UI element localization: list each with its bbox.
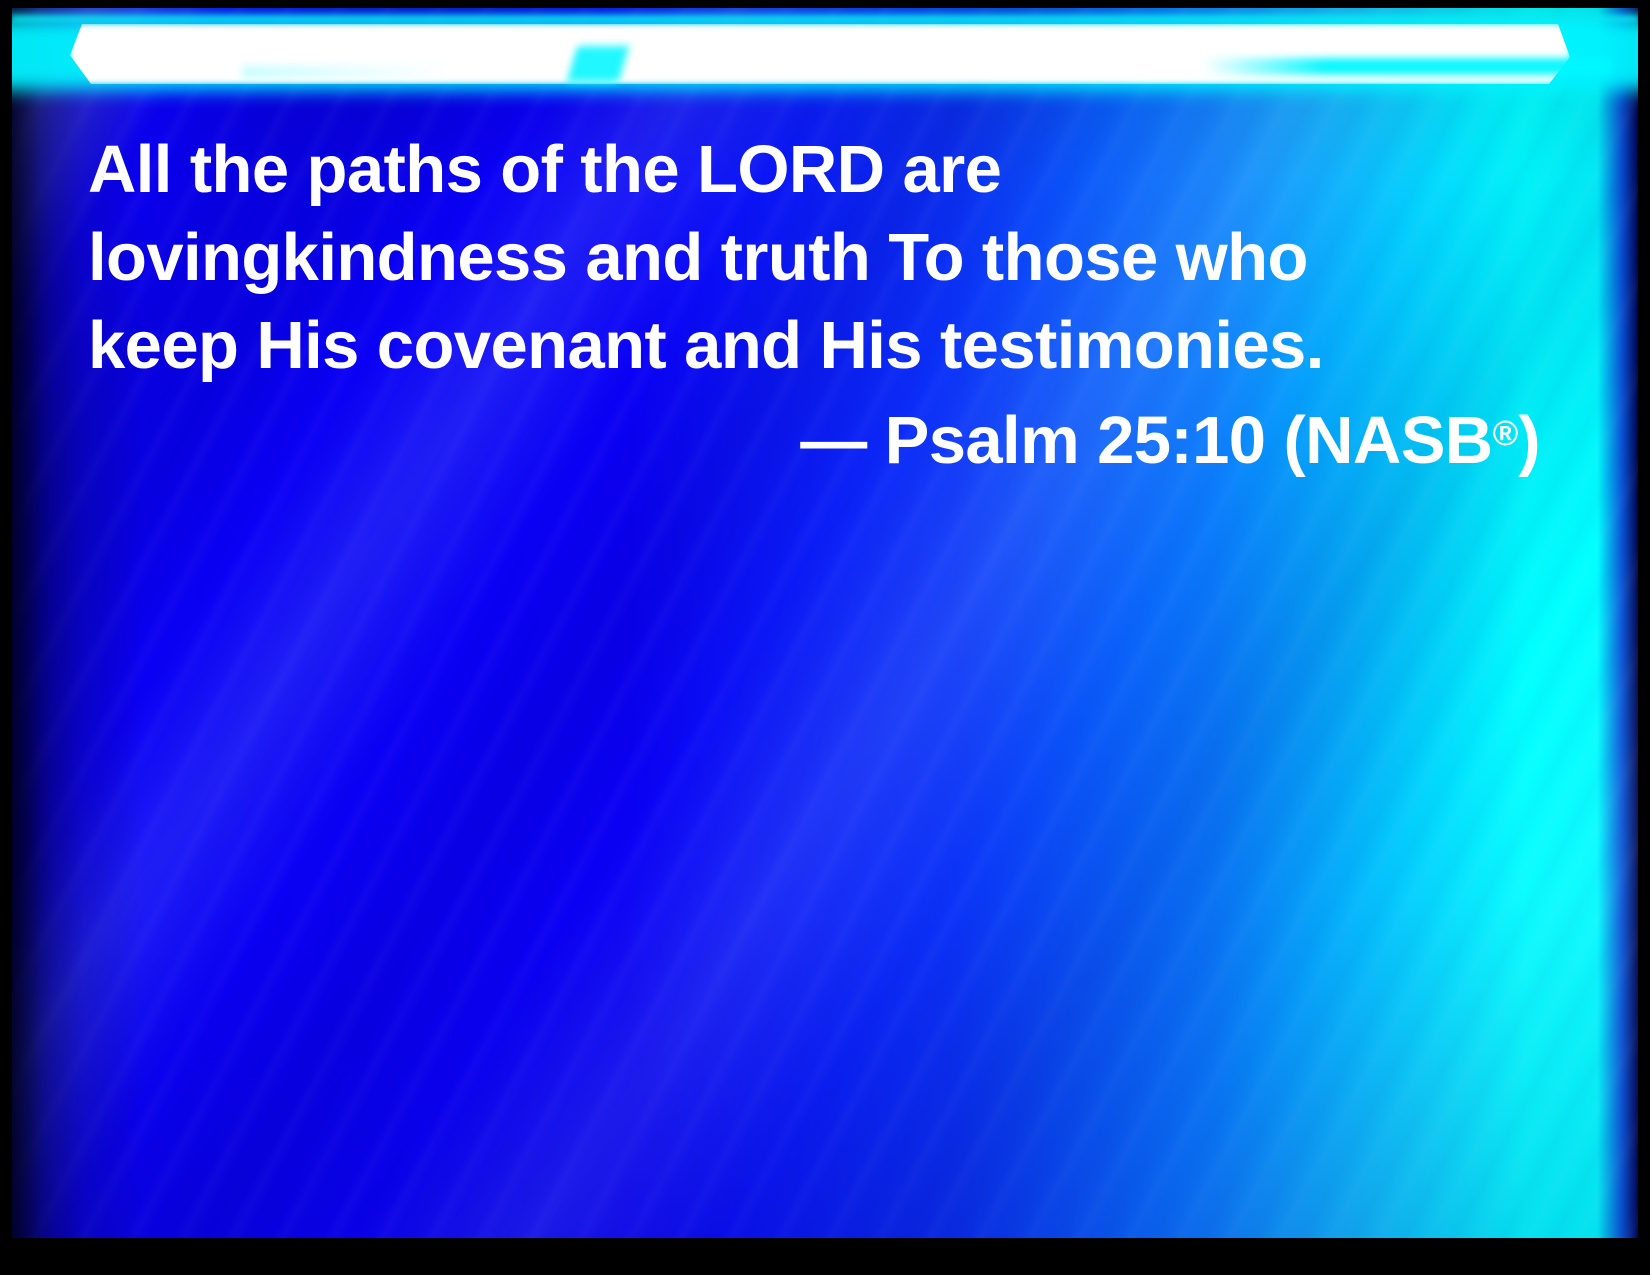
band-cyan-notch [567, 46, 629, 82]
attribution-prefix: — Psalm 25:10 (NASB [800, 403, 1492, 478]
top-glow-band [12, 8, 1638, 116]
verse-line-2: lovingkindness and truth To those who [88, 214, 1548, 302]
verse-text-block: All the paths of the LORD are lovingkind… [88, 126, 1548, 485]
verse-attribution: — Psalm 25:10 (NASB®) [88, 390, 1548, 485]
slide-artwork-canvas: All the paths of the LORD are lovingkind… [12, 8, 1638, 1238]
verse-slide: All the paths of the LORD are lovingkind… [0, 0, 1650, 1275]
registered-trademark-icon: ® [1493, 414, 1519, 453]
verse-line-3: keep His covenant and His testimonies. [88, 302, 1548, 390]
attribution-suffix: ) [1518, 403, 1540, 478]
band-cyan-wisp-left [242, 66, 452, 78]
band-cyan-wisp-right [1202, 58, 1612, 75]
verse-line-1: All the paths of the LORD are [88, 126, 1548, 214]
